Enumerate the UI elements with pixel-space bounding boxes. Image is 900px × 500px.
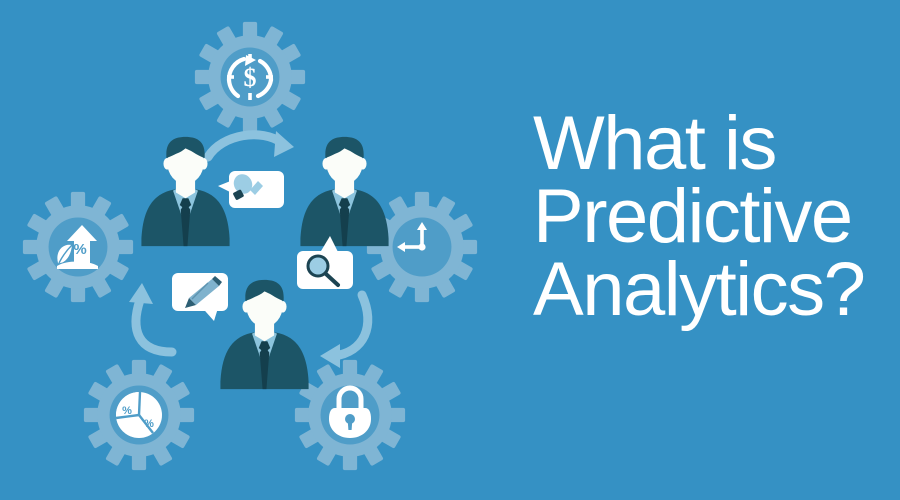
svg-text:%: % [122, 405, 132, 417]
arrow-left [129, 283, 172, 352]
arrow-right [320, 295, 368, 368]
gear-money[interactable]: $ [195, 22, 305, 132]
title-line-1: What is [533, 108, 893, 181]
person-figure [300, 137, 388, 246]
bubble-write[interactable] [172, 273, 228, 321]
gear-clock[interactable] [367, 192, 477, 302]
svg-text:%: % [73, 241, 86, 258]
banner: $ % [0, 0, 900, 500]
person-figure [220, 280, 308, 389]
person-top-right[interactable] [300, 137, 388, 246]
title-line-3: Analytics? [533, 254, 893, 327]
gear-lock[interactable] [295, 360, 405, 470]
title-line-2: Predictive [533, 181, 893, 254]
predictive-analytics-illustration: $ % [0, 0, 480, 500]
bubble-idea[interactable] [218, 171, 284, 208]
pie-chart-percent-icon: % % [116, 392, 162, 438]
arrow-top [208, 131, 294, 157]
page-title: What is Predictive Analytics? [533, 108, 893, 327]
svg-text:%: % [144, 418, 154, 430]
gear-growth[interactable]: % [23, 192, 133, 302]
svg-text:$: $ [244, 63, 257, 92]
gear-pie[interactable]: % % [84, 360, 194, 470]
person-bottom[interactable] [220, 280, 308, 389]
